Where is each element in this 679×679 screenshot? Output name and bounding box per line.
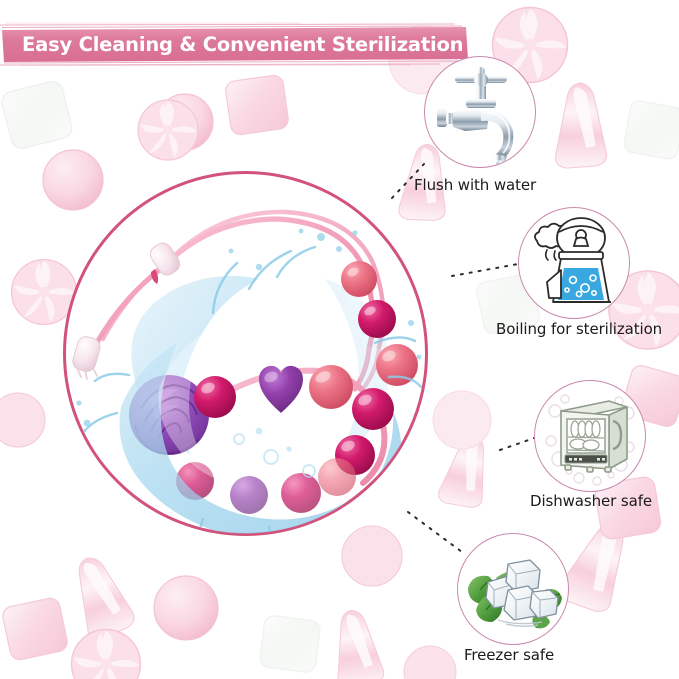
feature-label-dishwasher: Dishwasher safe [530, 492, 652, 510]
feature-label-boiling: Boiling for sterilization [496, 320, 662, 338]
decor-candy-corn-3 [555, 514, 640, 617]
page-title: Easy Cleaning & Convenient Sterilization [22, 22, 463, 66]
decor-gumball-top [157, 94, 213, 150]
decor-marshmallow-top-left [0, 79, 74, 150]
kettle-steam-icon [519, 208, 630, 319]
decor-gumball-left-2 [0, 393, 45, 447]
decor-candy-corn-6 [437, 430, 497, 511]
decor-gumball-mid-left [433, 391, 491, 449]
feature-icon-circle-flush [424, 56, 536, 168]
decor-swirl-mint-1 [138, 100, 198, 160]
decor-swirl-mint-5 [72, 630, 141, 679]
decor-candy-corn-5 [329, 607, 385, 679]
faucet-icon [425, 57, 536, 168]
feature-label-freezer: Freezer safe [464, 646, 554, 664]
decor-marshmallow-bottom-mid [259, 615, 321, 673]
decor-clear-square-top-right [623, 100, 679, 161]
connector-to-flush [392, 164, 424, 198]
feature-label-flush: Flush with water [414, 176, 536, 194]
decor-candy-corn-1 [556, 83, 607, 168]
decor-marshmallow-bottom-left [1, 597, 69, 662]
decor-candy-corn-4 [64, 550, 137, 643]
decor-gumball-bottom-mid [342, 526, 402, 586]
decor-marshmallow-top-mid [225, 74, 290, 136]
feature-icon-circle-freezer [457, 533, 569, 645]
feature-icon-circle-dishwasher [534, 380, 646, 492]
connector-to-boiling [452, 264, 518, 276]
connector-to-freezer [408, 512, 462, 552]
decor-gumball-bottom-right [404, 646, 456, 679]
dishwasher-icon [535, 381, 646, 492]
product-showcase-circle [63, 171, 428, 536]
ice-cubes-mint-icon [458, 534, 569, 645]
feature-icon-circle-boiling [518, 207, 630, 319]
decor-gumball-bottom [154, 576, 218, 640]
header-banner: Easy Cleaning & Convenient Sterilization [0, 22, 470, 66]
decor-gumball-left-1 [43, 150, 103, 210]
